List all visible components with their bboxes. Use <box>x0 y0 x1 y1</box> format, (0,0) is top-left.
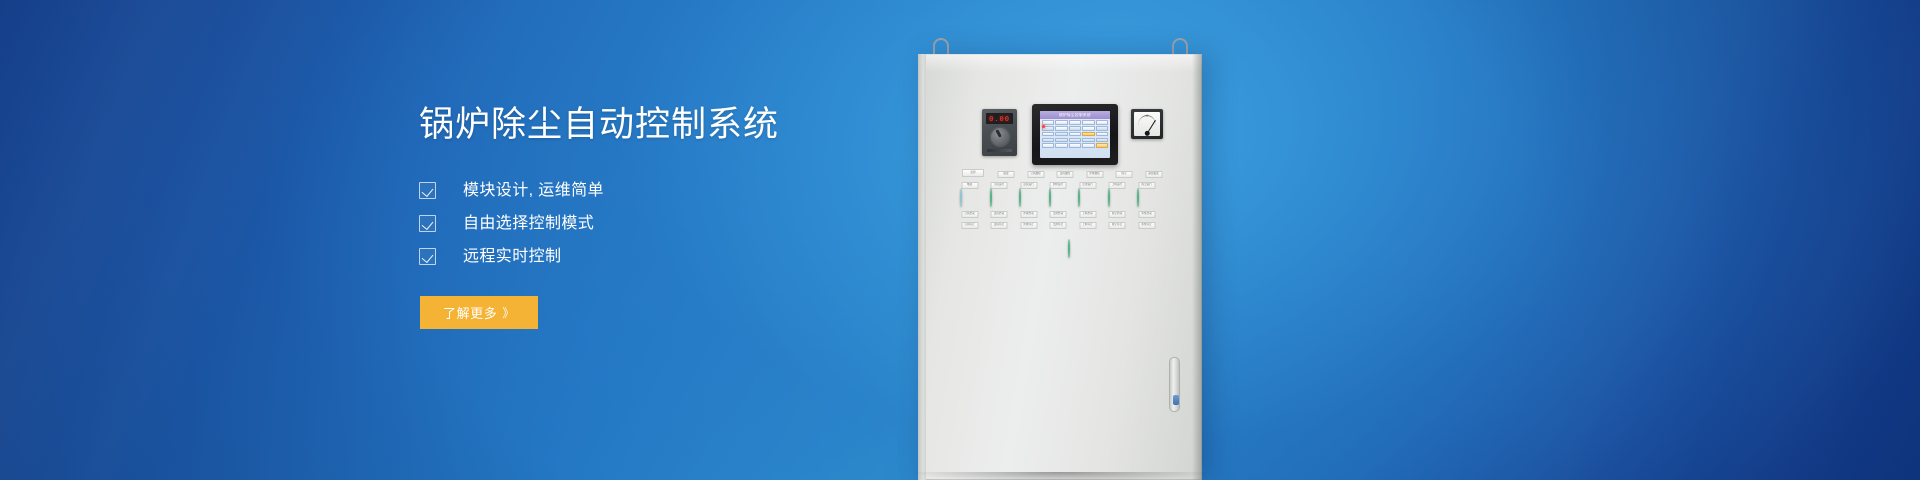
indicator-lamp[interactable]: 除尘运行 <box>1137 189 1156 207</box>
button-tag: 炉排故障 <box>1086 171 1103 178</box>
light-streak <box>1346 0 1920 480</box>
hmi-data-row <box>1040 138 1110 143</box>
indicator-lamp[interactable]: 上料运行 <box>1108 189 1127 207</box>
feature-label: 模块设计, 运维简单 <box>463 181 604 201</box>
hmi-data-row <box>1040 120 1110 125</box>
hmi-cell <box>1082 120 1095 125</box>
feature-item-2: 自由选择控制模式 <box>419 207 939 240</box>
button-tag: 出渣启动 <box>1050 211 1067 218</box>
feature-label: 自由选择控制模式 <box>463 214 594 234</box>
hmi-cell <box>1042 132 1055 137</box>
hmi-cell <box>1042 138 1055 143</box>
hmi-cell <box>1069 138 1082 143</box>
button-tag: 炉排停止 <box>1020 222 1037 229</box>
hmi-cell <box>1096 120 1109 125</box>
hmi-data-row <box>1040 143 1110 148</box>
button-tag: 上料启动 <box>1079 211 1096 218</box>
hmi-cell <box>1069 126 1082 131</box>
button-tag: 引风停止 <box>961 222 978 229</box>
hero-banner: 锅炉除尘自动控制系统 模块设计, 运维简单 自由选择控制模式 远程实时控制 了解… <box>0 0 1920 480</box>
hmi-cell <box>1055 138 1068 143</box>
feature-label: 远程实时控制 <box>463 247 561 267</box>
hmi-cell <box>1082 138 1095 143</box>
check-square-icon <box>419 215 436 232</box>
drive-display: 0.00 <box>986 113 1013 124</box>
indicator-lamp[interactable]: 出渣运行 <box>1078 189 1097 207</box>
power-indicator-row: 电源 引风运行 送风运行 炉排运行 <box>960 189 1172 207</box>
hmi-cell <box>1055 132 1068 137</box>
button-tag: 上料运行 <box>1109 182 1126 189</box>
push-button-matrix: 急停 报警 引风故障 送风故障 <box>960 178 1172 269</box>
button-tag: 上料停止 <box>1079 222 1096 229</box>
button-cap[interactable] <box>990 188 992 207</box>
cta-label: 了解更多 <box>443 303 497 322</box>
indicator-lamp[interactable]: 送风运行 <box>1019 189 1038 207</box>
hmi-cell <box>1082 126 1095 131</box>
gauge-face: V <box>1134 112 1160 136</box>
selector-switch[interactable] <box>960 240 973 258</box>
cabinet-shadow <box>910 472 1210 480</box>
button-tag: 水泵停止 <box>1138 222 1155 229</box>
hmi-cell-highlight <box>1082 132 1095 137</box>
hmi-data-row <box>1040 132 1110 137</box>
selector-switch[interactable] <box>1014 240 1027 258</box>
feature-list: 模块设计, 运维简单 自由选择控制模式 远程实时控制 <box>419 174 939 273</box>
button-tag: 超温报警 <box>1145 171 1162 178</box>
check-square-icon <box>419 248 436 265</box>
hmi-cell <box>1042 143 1055 148</box>
hmi-cell <box>1096 132 1109 137</box>
hmi-cell <box>1055 126 1068 131</box>
light-streak <box>1606 0 1920 480</box>
button-tag: 引风运行 <box>991 182 1008 189</box>
hmi-cell <box>1069 120 1082 125</box>
button-tag: 除尘启动 <box>1109 211 1126 218</box>
button-cap[interactable] <box>1137 188 1139 207</box>
selector-switch[interactable] <box>1068 240 1081 258</box>
button-tag: 炉排启动 <box>1020 211 1037 218</box>
button-cap[interactable] <box>1108 188 1110 207</box>
button-tag: 送风停止 <box>991 222 1008 229</box>
button-tag: 水泵启动 <box>1138 211 1155 218</box>
analog-gauge: V <box>1131 109 1163 139</box>
button-tag: 报警 <box>998 171 1015 178</box>
hmi-cell <box>1069 143 1082 148</box>
button-tag: 出渣停止 <box>1050 222 1067 229</box>
check-square-icon <box>419 182 436 199</box>
indicator-lamp[interactable]: 炉排运行 <box>1049 189 1068 207</box>
button-tag: 引风故障 <box>1027 171 1044 178</box>
button-cap[interactable] <box>960 188 962 207</box>
button-tag: 送风运行 <box>1020 182 1037 189</box>
cabinet-highlight <box>919 54 1202 72</box>
button-tag: 炉排运行 <box>1050 182 1067 189</box>
hmi-cell <box>1069 132 1082 137</box>
selector-switch[interactable] <box>1041 240 1054 258</box>
button-cap[interactable] <box>1078 188 1080 207</box>
button-cap[interactable] <box>1019 188 1021 207</box>
selector-switch-row <box>960 240 1172 258</box>
hero-copy-block: 锅炉除尘自动控制系统 模块设计, 运维简单 自由选择控制模式 远程实时控制 <box>419 103 939 273</box>
drive-controller-module[interactable]: 0.00 <box>982 109 1017 156</box>
button-tag: 除尘运行 <box>1138 182 1155 189</box>
drive-terminal-strip <box>987 149 1012 152</box>
button-cap[interactable] <box>1068 239 1070 258</box>
hmi-screen[interactable]: 锅炉除尘控制系统 <box>1040 111 1110 158</box>
selector-switch[interactable] <box>987 240 1000 258</box>
button-tag: 除尘 <box>1116 171 1133 178</box>
button-tag: 除尘停止 <box>1109 222 1126 229</box>
hmi-cell <box>1055 120 1068 125</box>
button-tag: 出渣运行 <box>1079 182 1096 189</box>
power-led-icon <box>1042 125 1045 128</box>
drive-knob[interactable] <box>991 128 1009 146</box>
button-tag: 急停 <box>962 169 984 177</box>
hmi-cell-highlight <box>1096 143 1109 148</box>
hmi-touchscreen[interactable]: 锅炉除尘控制系统 <box>1032 104 1118 165</box>
light-streak <box>0 0 314 480</box>
button-cap[interactable] <box>1049 188 1051 207</box>
button-tag: 引风启动 <box>961 211 978 218</box>
hmi-data-row <box>1040 126 1110 131</box>
button-tag: 送风启动 <box>991 211 1008 218</box>
light-streak <box>0 0 394 480</box>
learn-more-button[interactable]: 了解更多 》 <box>420 296 538 329</box>
cabinet-hinge-strip <box>919 54 926 480</box>
control-cabinet-image: 0.00 锅炉除尘控制系统 <box>900 0 1320 480</box>
indicator-lamp[interactable]: 电源 <box>960 189 979 207</box>
hmi-screen-title: 锅炉除尘控制系统 <box>1040 111 1110 119</box>
button-tag: 电源 <box>961 182 978 189</box>
cabinet-body: 0.00 锅炉除尘控制系统 <box>918 54 1202 480</box>
hmi-cell <box>1082 143 1095 148</box>
cabinet-right-edge <box>1192 54 1202 480</box>
hmi-cell <box>1055 143 1068 148</box>
hmi-cell <box>1096 126 1109 131</box>
feature-item-1: 模块设计, 运维简单 <box>419 174 939 207</box>
page-title: 锅炉除尘自动控制系统 <box>419 103 939 147</box>
indicator-lamp[interactable]: 引风运行 <box>990 189 1009 207</box>
chevron-right-icon: 》 <box>502 304 515 321</box>
hmi-cell <box>1096 138 1109 143</box>
cabinet-door-handle[interactable] <box>1169 357 1180 412</box>
feature-item-3: 远程实时控制 <box>419 240 939 273</box>
button-tag: 送风故障 <box>1057 171 1074 178</box>
